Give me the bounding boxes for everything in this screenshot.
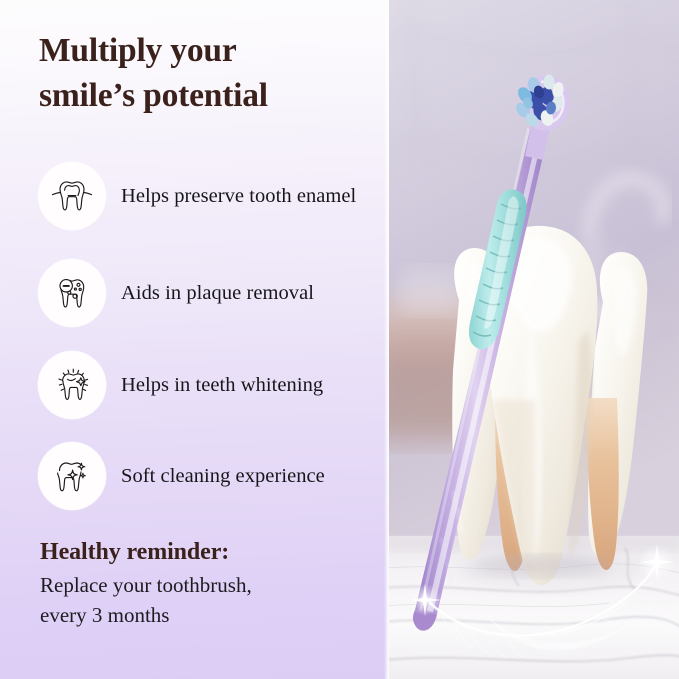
- page-title: Multiply your smile’s potential: [39, 28, 369, 118]
- reminder-body: Replace your toothbrush, every 3 months: [40, 571, 370, 630]
- feature-row: Soft cleaning experience: [38, 442, 386, 510]
- reminder-title: Healthy reminder:: [40, 536, 370, 569]
- reminder-line-1: Replace your toothbrush,: [40, 571, 370, 601]
- feature-icon-badge: [38, 442, 106, 510]
- feature-row: Aids in plaque removal: [38, 259, 386, 327]
- tooth-enamel-icon: [50, 174, 94, 218]
- feature-label: Helps preserve tooth enamel: [121, 183, 356, 210]
- product-photo-panel: CurvyNomad SOFTER ON GUMS: [389, 0, 679, 679]
- feature-row: Helps preserve tooth enamel: [38, 162, 386, 230]
- feature-icon-badge: [38, 162, 106, 230]
- info-panel: Multiply your smile’s potential Helps pr…: [0, 0, 389, 679]
- headline-line-2: smile’s potential: [39, 73, 369, 118]
- feature-label: Aids in plaque removal: [121, 280, 314, 307]
- infographic-card: Multiply your smile’s potential Helps pr…: [0, 0, 679, 679]
- feature-icon-badge: [38, 259, 106, 327]
- tooth-plaque-icon: [50, 271, 94, 315]
- feature-row: Helps in teeth whitening: [38, 351, 386, 419]
- healthy-reminder-block: Healthy reminder: Replace your toothbrus…: [40, 536, 370, 630]
- feature-label: Soft cleaning experience: [121, 463, 325, 490]
- reminder-line-2: every 3 months: [40, 601, 370, 631]
- tooth-sparkle-icon: [50, 454, 94, 498]
- product-photo: CurvyNomad SOFTER ON GUMS: [389, 0, 679, 679]
- tooth-shine-icon: [50, 363, 94, 407]
- headline-line-1: Multiply your: [39, 28, 369, 73]
- feature-icon-badge: [38, 351, 106, 419]
- feature-label: Helps in teeth whitening: [121, 372, 323, 399]
